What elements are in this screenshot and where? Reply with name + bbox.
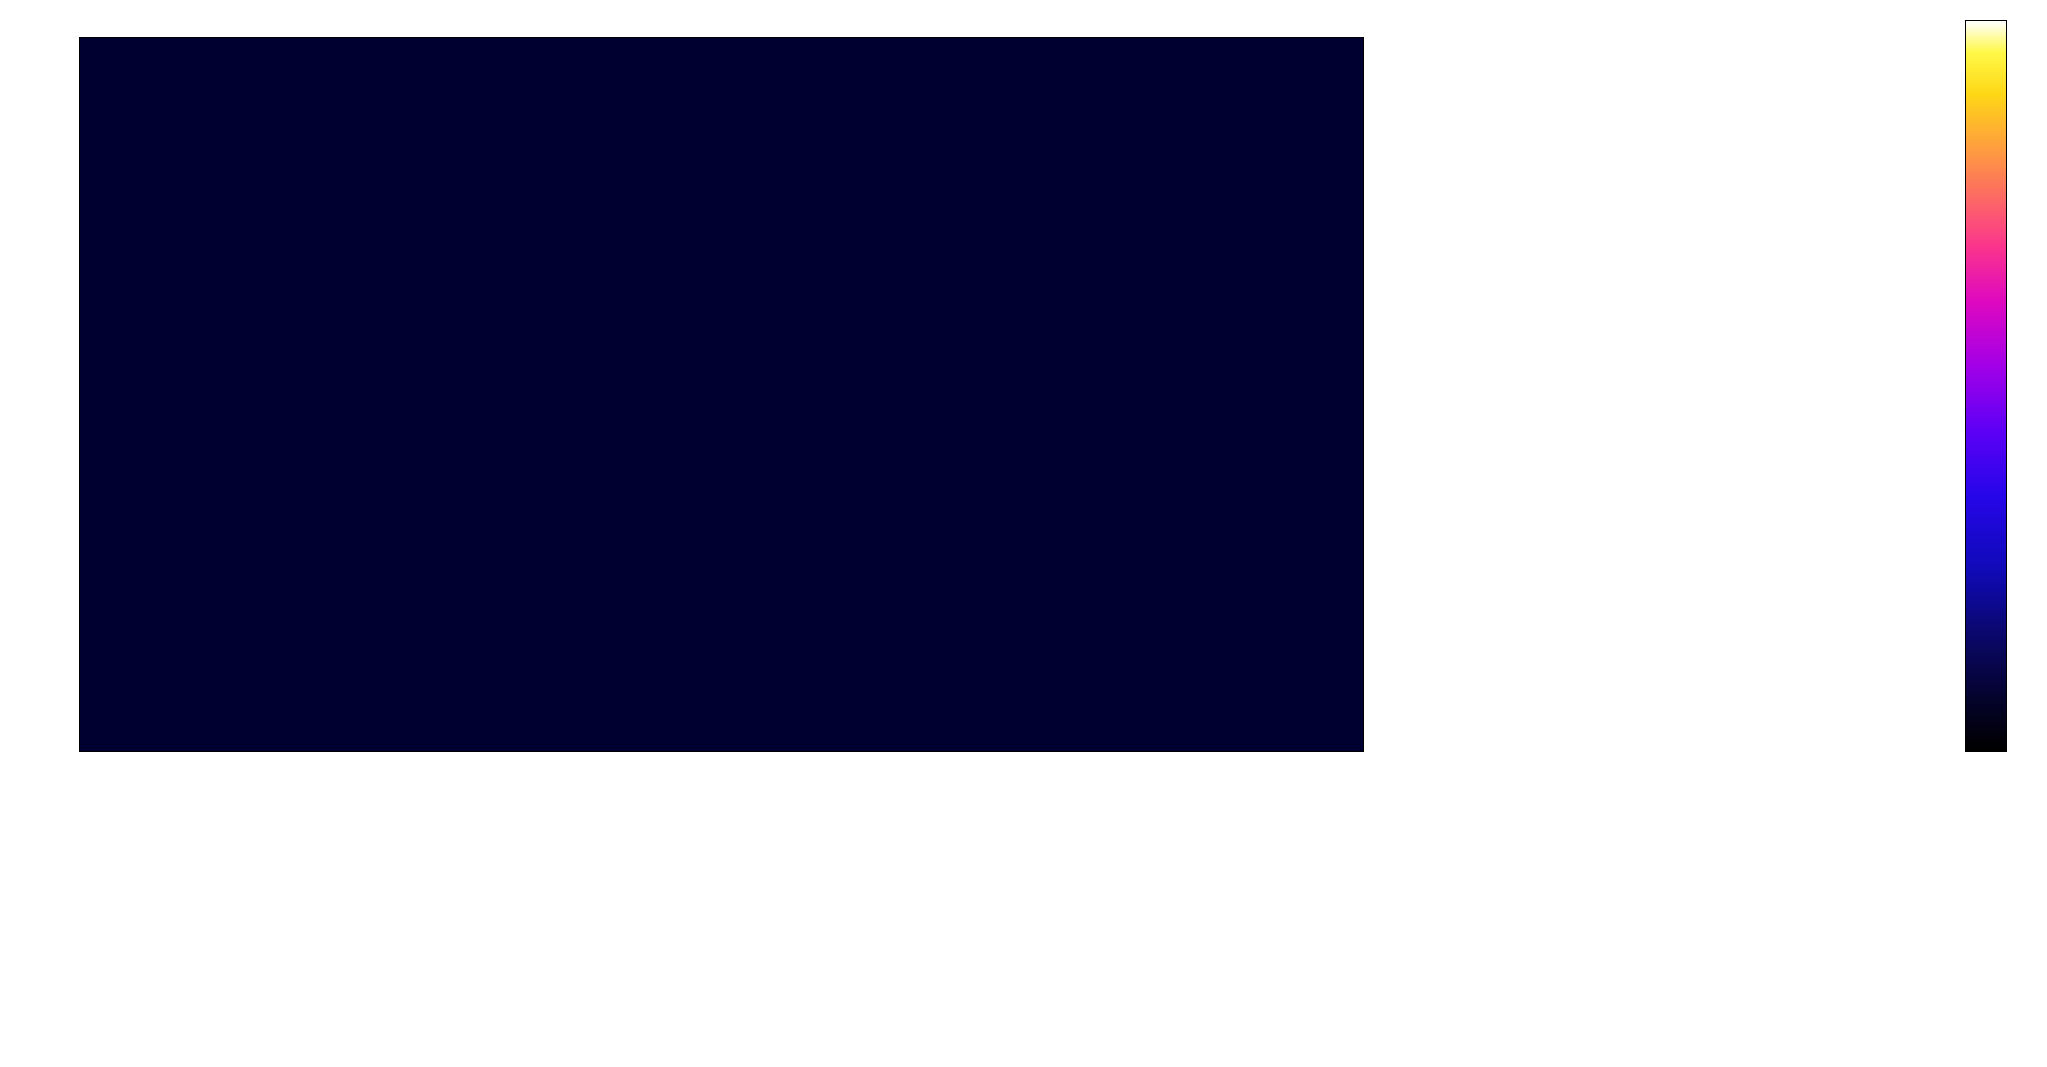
colorbar-ticks [2007,20,2047,750]
y-axis [0,0,79,1067]
spectrogram-image [80,38,1363,751]
spectrogram-plot-area [79,37,1364,752]
x-axis [0,751,2047,831]
colorbar [1965,20,2007,752]
spectrogram-figure [0,0,2047,1067]
colorbar-gradient [1966,21,2006,751]
